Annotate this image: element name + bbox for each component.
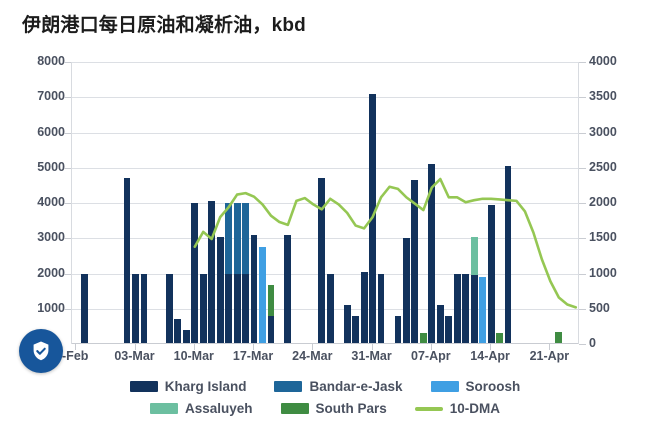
x-axis-tick: 14-Apr xyxy=(470,349,510,363)
legend-item-10-dma[interactable]: 10-DMA xyxy=(415,401,500,416)
tick-mark xyxy=(372,344,373,350)
legend-item-kharg-island[interactable]: Kharg Island xyxy=(130,379,247,394)
tick-mark xyxy=(579,344,586,345)
axis-baseline xyxy=(72,343,578,344)
tick-mark xyxy=(431,344,432,350)
legend-swatch-icon xyxy=(130,381,158,392)
tick-mark xyxy=(64,168,71,169)
y-axis-right-tick: 2000 xyxy=(589,195,649,209)
tick-mark xyxy=(549,344,550,350)
legend-label: Soroosh xyxy=(466,379,521,394)
tick-mark xyxy=(64,238,71,239)
y-axis-left-tick: 2000 xyxy=(5,266,65,280)
tick-mark xyxy=(64,97,71,98)
x-axis-tick: 10-Mar xyxy=(174,349,214,363)
x-axis-tick: 07-Apr xyxy=(411,349,451,363)
tick-mark xyxy=(579,168,586,169)
legend-item-bandar-e-jask[interactable]: Bandar-e-Jask xyxy=(274,379,402,394)
legend-swatch-icon xyxy=(281,403,309,414)
tick-mark xyxy=(253,344,254,350)
y-axis-left-tick: 8000 xyxy=(5,54,65,68)
tick-mark xyxy=(135,344,136,350)
x-axis-tick: 17-Mar xyxy=(233,349,273,363)
legend-row: Kharg IslandBandar-e-JaskSoroosh xyxy=(116,379,535,394)
y-axis-right-tick: 1500 xyxy=(589,230,649,244)
chart-container: 伊朗港口每日原油和凝析油，kbd 80007000600050004000300… xyxy=(0,0,650,429)
tick-mark xyxy=(579,309,586,310)
legend-label: Bandar-e-Jask xyxy=(309,379,402,394)
legend-item-assaluyeh[interactable]: Assaluyeh xyxy=(150,401,253,416)
x-axis-tick: -Feb xyxy=(62,349,88,363)
verified-badge[interactable] xyxy=(19,329,63,373)
tick-mark xyxy=(194,344,195,350)
tick-mark xyxy=(312,344,313,350)
legend-label: South Pars xyxy=(316,401,387,416)
x-axis-tick: 21-Apr xyxy=(530,349,570,363)
10-dma-polyline xyxy=(195,179,576,307)
legend-swatch-icon xyxy=(415,407,443,411)
tick-mark xyxy=(64,274,71,275)
x-axis-tick: 03-Mar xyxy=(114,349,154,363)
tick-mark xyxy=(75,344,76,350)
y-axis-right-tick: 1000 xyxy=(589,266,649,280)
10-dma-line xyxy=(72,62,580,344)
legend-swatch-icon xyxy=(431,381,459,392)
y-axis-right-tick: 3500 xyxy=(589,89,649,103)
tick-mark xyxy=(579,203,586,204)
legend-label: 10-DMA xyxy=(450,401,500,416)
tick-mark xyxy=(579,133,586,134)
tick-mark xyxy=(64,133,71,134)
x-axis-tick: 24-Mar xyxy=(292,349,332,363)
tick-mark xyxy=(579,62,586,63)
y-axis-left-tick: 3000 xyxy=(5,230,65,244)
legend-row: AssaluyehSouth Pars10-DMA xyxy=(136,401,514,416)
tick-mark xyxy=(64,203,71,204)
y-axis-left-tick: 6000 xyxy=(5,125,65,139)
legend-label: Kharg Island xyxy=(165,379,247,394)
chart-title: 伊朗港口每日原油和凝析油，kbd xyxy=(22,10,306,37)
tick-mark xyxy=(64,309,71,310)
y-axis-left-tick: 1000 xyxy=(5,301,65,315)
dma-line-group xyxy=(72,62,578,344)
x-axis-tick: 31-Mar xyxy=(351,349,391,363)
chart-legend: Kharg IslandBandar-e-JaskSorooshAssaluye… xyxy=(0,379,650,416)
legend-label: Assaluyeh xyxy=(185,401,253,416)
tick-mark xyxy=(490,344,491,350)
y-axis-right-tick: 0 xyxy=(589,336,649,350)
tick-mark xyxy=(579,97,586,98)
y-axis-left-tick: 4000 xyxy=(5,195,65,209)
y-axis-right-tick: 2500 xyxy=(589,160,649,174)
plot-area xyxy=(71,62,579,344)
legend-item-soroosh[interactable]: Soroosh xyxy=(431,379,521,394)
y-axis-right-tick: 500 xyxy=(589,301,649,315)
y-axis-right-tick: 3000 xyxy=(589,125,649,139)
y-axis-left-tick: 5000 xyxy=(5,160,65,174)
legend-item-south-pars[interactable]: South Pars xyxy=(281,401,387,416)
tick-mark xyxy=(64,62,71,63)
y-axis-left-tick: 7000 xyxy=(5,89,65,103)
legend-swatch-icon xyxy=(150,403,178,414)
tick-mark xyxy=(579,274,586,275)
shield-check-icon xyxy=(29,339,53,363)
legend-swatch-icon xyxy=(274,381,302,392)
y-axis-right-tick: 4000 xyxy=(589,54,649,68)
tick-mark xyxy=(579,238,586,239)
